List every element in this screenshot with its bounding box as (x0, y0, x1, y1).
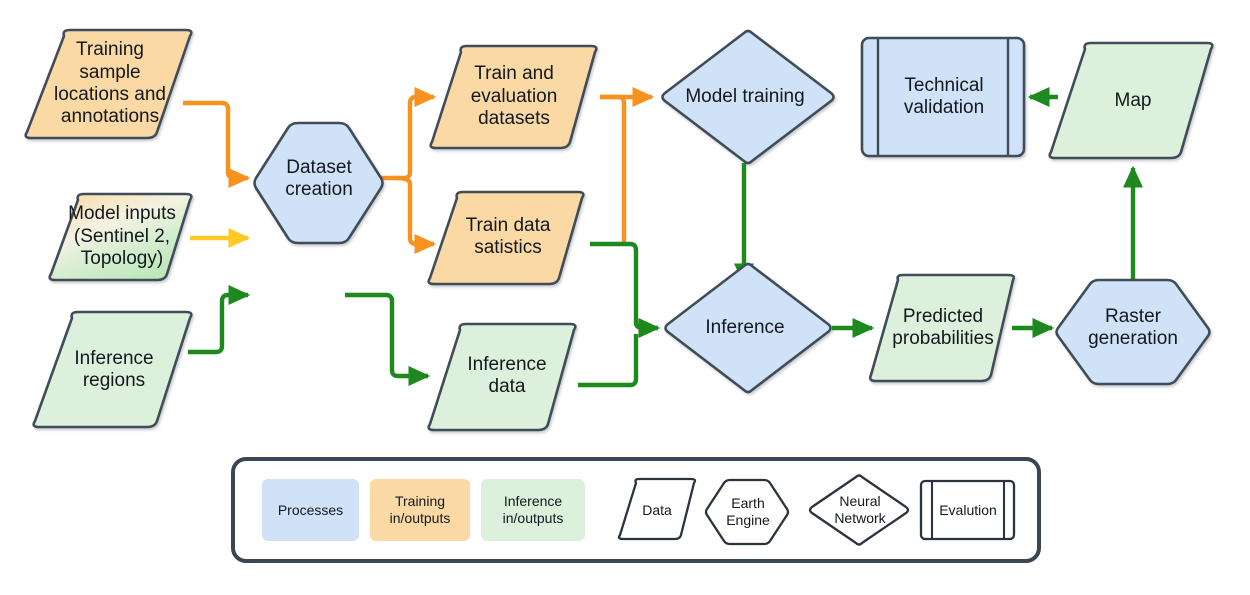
legend-shape-evalution[interactable] (921, 481, 1014, 539)
node-training-sample-locations[interactable] (26, 30, 192, 138)
node-train-data-satistics[interactable] (429, 192, 584, 284)
legend-swatch-processes[interactable] (262, 479, 359, 541)
edge-dataset-creation-to-train-data-satistics (396, 178, 434, 244)
edge-train-and-evaluation-datasets-riser (600, 97, 624, 244)
legend-swatch-inference-inoutputs[interactable] (481, 479, 585, 541)
node-train-and-evaluation-datasets[interactable] (431, 46, 597, 148)
node-model-training[interactable] (663, 31, 834, 163)
edge-train-data-satistics-to-inference (590, 244, 658, 328)
edge-training-sample-locations-to-dataset-creation (183, 103, 248, 178)
edge-dataset-creation-to-inference-data (345, 295, 428, 376)
node-technical-validation[interactable] (862, 38, 1024, 156)
node-dataset-creation[interactable] (255, 123, 383, 243)
node-map[interactable] (1050, 43, 1213, 158)
node-shape-group (26, 30, 1213, 430)
node-predicted-probabilities[interactable] (870, 275, 1014, 381)
node-inference[interactable] (666, 264, 831, 392)
edge-inference-regions-to-dataset-creation (188, 295, 248, 352)
node-inference-regions[interactable] (34, 312, 192, 427)
diagram-svg (0, 0, 1250, 595)
flowchart-canvas: Training sample locations and annotation… (0, 0, 1250, 595)
edge-inference-data-to-inference (578, 334, 636, 385)
node-raster-generation[interactable] (1057, 280, 1210, 384)
legend-group (233, 459, 1039, 561)
node-inference-data[interactable] (429, 324, 576, 430)
legend-swatch-training-inoutputs[interactable] (370, 479, 470, 541)
node-model-inputs[interactable] (50, 194, 192, 280)
